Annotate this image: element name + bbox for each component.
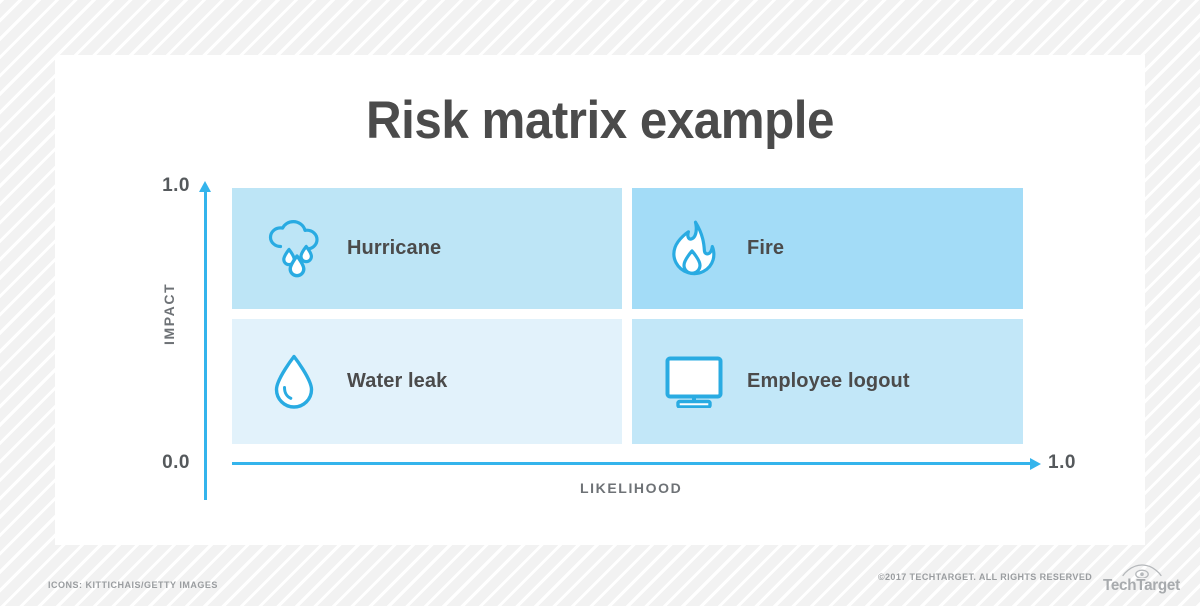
quadrant-label-fire: Fire (747, 237, 784, 260)
quadrant-grid: Hurricane Fire (232, 188, 1023, 444)
techtarget-wordmark: TechTarget (1103, 578, 1180, 594)
x-axis-line (232, 462, 1032, 465)
footer-brand-area: ©2017 TECHTARGET. ALL RIGHTS RESERVED Te… (878, 562, 1182, 594)
quadrant-fire[interactable]: Fire (632, 188, 1023, 309)
quadrant-label-hurricane: Hurricane (347, 237, 441, 260)
quadrant-water-leak[interactable]: Water leak (232, 319, 622, 444)
eye-icon (1121, 562, 1163, 578)
x-axis-title: LIKELIHOOD (580, 480, 682, 496)
risk-matrix-infographic: Risk matrix example 1.0 0.0 1.0 IMPACT L… (0, 0, 1200, 606)
y-axis-line (204, 188, 207, 500)
x-axis-arrowhead-icon (1030, 458, 1041, 470)
icon-credit: ICONS: KITTICHAIS/GETTY IMAGES (48, 580, 218, 590)
monitor-icon (665, 351, 723, 413)
copyright-notice: ©2017 TECHTARGET. ALL RIGHTS RESERVED (878, 572, 1092, 584)
techtarget-logo: TechTarget (1101, 562, 1182, 594)
content-card: Risk matrix example 1.0 0.0 1.0 IMPACT L… (55, 55, 1145, 545)
y-axis-arrowhead-icon (199, 181, 211, 192)
flame-icon (665, 218, 723, 280)
quadrant-employee-logout[interactable]: Employee logout (632, 319, 1023, 444)
y-axis-max-tick-label: 1.0 (162, 175, 190, 197)
rain-cloud-icon (265, 218, 323, 280)
quadrant-label-employee-logout: Employee logout (747, 370, 910, 393)
quadrant-hurricane[interactable]: Hurricane (232, 188, 622, 309)
y-axis-title: IMPACT (161, 283, 177, 345)
quadrant-label-water-leak: Water leak (347, 370, 447, 393)
risk-matrix-chart: 1.0 0.0 1.0 IMPACT LIKELIHOOD (55, 55, 1145, 545)
water-drop-icon (265, 351, 323, 413)
x-axis-max-tick-label: 1.0 (1048, 452, 1076, 474)
axis-origin-tick-label: 0.0 (162, 452, 190, 474)
